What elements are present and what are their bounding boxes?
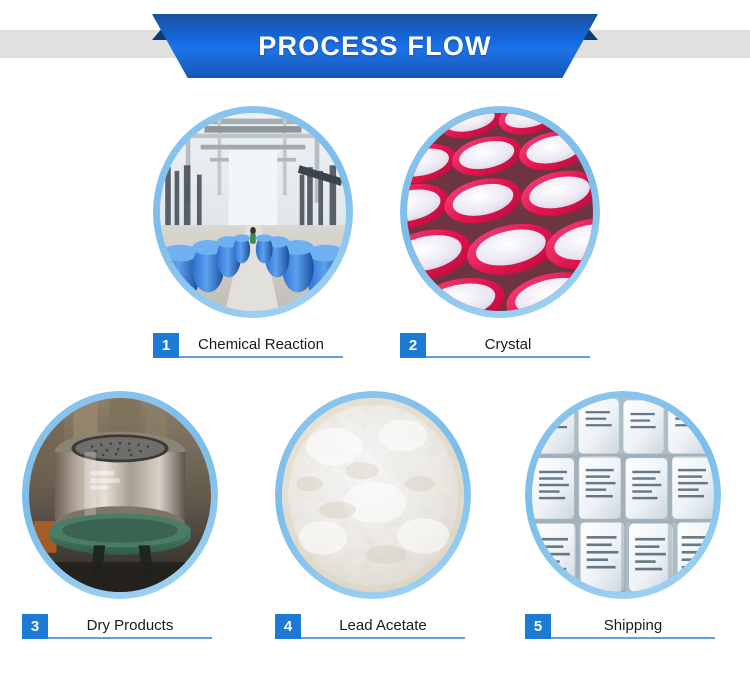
process-step-5[interactable]: 5 Shipping	[525, 391, 721, 599]
chemical-reaction-plant-photo	[160, 113, 346, 311]
process-step-3[interactable]: 3 Dry Products	[22, 391, 218, 599]
process-step-3-badge: 3	[22, 614, 48, 639]
process-step-5-label-wrap: Shipping	[551, 614, 715, 639]
process-step-4-label-wrap: Lead Acetate	[301, 614, 465, 639]
process-step-5-caption: 5 Shipping	[525, 613, 715, 639]
page-header: PROCESS FLOW	[0, 0, 750, 96]
process-step-3-media	[22, 391, 218, 599]
process-step-4[interactable]: 4 Lead Acetate	[275, 391, 471, 599]
process-step-1-badge: 1	[153, 333, 179, 358]
process-step-2-media	[400, 106, 600, 318]
shipping-bags-illustration	[532, 398, 714, 592]
process-step-3-caption: 3 Dry Products	[22, 613, 212, 639]
process-step-2-caption: 2 Crystal	[400, 332, 590, 358]
lead-acetate-powder-photo	[282, 398, 464, 592]
ribbon-banner: PROCESS FLOW	[152, 14, 598, 78]
page-title: PROCESS FLOW	[258, 31, 491, 62]
process-step-1-label: Chemical Reaction	[198, 336, 324, 353]
process-step-5-label: Shipping	[604, 617, 662, 634]
process-step-3-label: Dry Products	[87, 617, 174, 634]
process-step-1[interactable]: 1 Chemical Reaction	[153, 106, 353, 318]
process-step-2[interactable]: 2 Crystal	[400, 106, 600, 318]
process-step-1-media	[153, 106, 353, 318]
centrifuge-illustration	[29, 398, 211, 592]
process-step-3-label-wrap: Dry Products	[48, 614, 212, 639]
chemical-reaction-illustration	[160, 113, 346, 311]
process-step-2-label-wrap: Crystal	[426, 333, 590, 358]
process-step-4-caption: 4 Lead Acetate	[275, 613, 465, 639]
crystal-trays-illustration	[407, 113, 593, 311]
dry-products-centrifuge-photo	[29, 398, 211, 592]
process-step-4-label: Lead Acetate	[339, 617, 427, 634]
shipping-bags-photo	[532, 398, 714, 592]
crystal-trays-photo	[407, 113, 593, 311]
process-step-4-media	[275, 391, 471, 599]
process-step-5-badge: 5	[525, 614, 551, 639]
process-step-5-media	[525, 391, 721, 599]
process-step-1-label-wrap: Chemical Reaction	[179, 333, 343, 358]
process-step-2-label: Crystal	[485, 336, 532, 353]
process-step-4-badge: 4	[275, 614, 301, 639]
powder-illustration	[282, 398, 464, 592]
process-step-1-caption: 1 Chemical Reaction	[153, 332, 343, 358]
process-step-2-badge: 2	[400, 333, 426, 358]
